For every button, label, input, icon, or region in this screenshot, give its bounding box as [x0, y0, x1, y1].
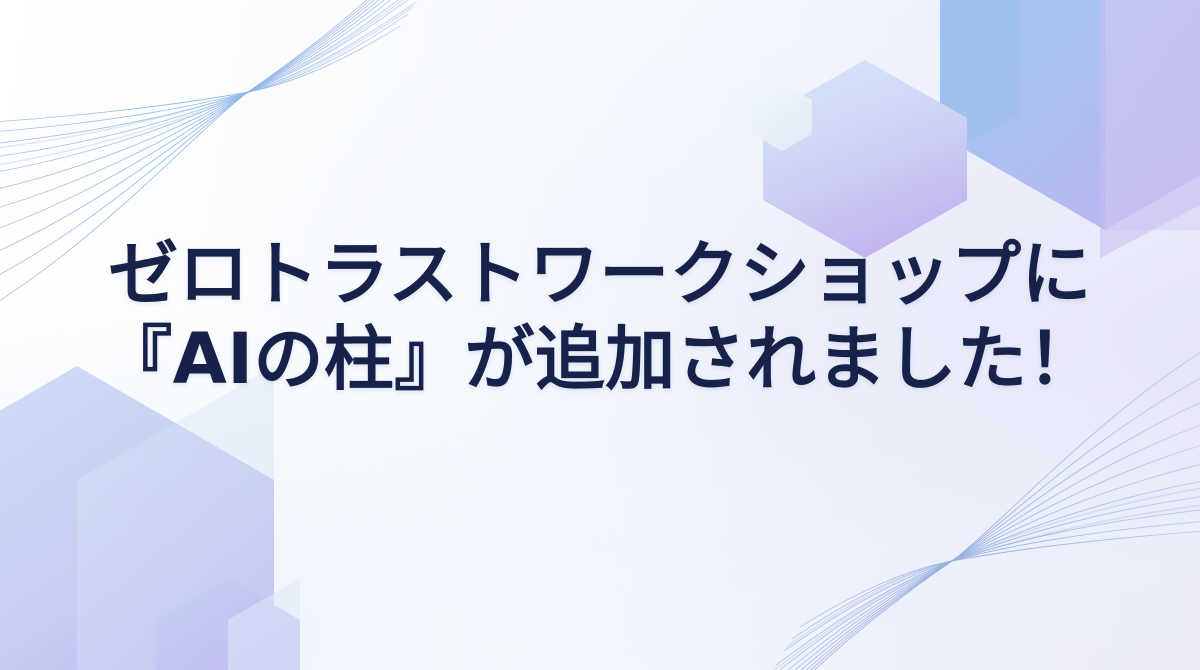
page-title: ゼロトラストワークショップに 『AIの柱』が追加されました！ [0, 232, 1200, 403]
headline-line-1: ゼロトラストワークショップに [0, 232, 1200, 317]
headline-line-2: 『AIの柱』が追加されました！ [0, 317, 1200, 402]
banner-canvas: ゼロトラストワークショップに 『AIの柱』が追加されました！ [0, 0, 1200, 670]
